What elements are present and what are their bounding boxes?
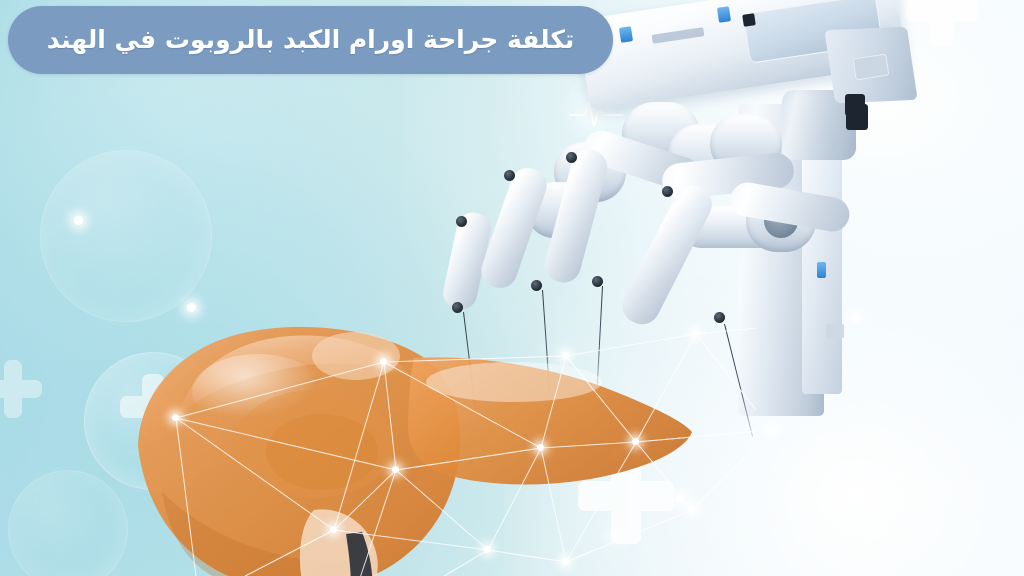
mesh-node [330,526,337,533]
polygonal-network-overlay [96,300,756,576]
instrument-cap-top-4 [662,186,673,197]
title-banner: تكلفة جراحة اورام الكبد بالروبوت في الهن… [8,6,613,74]
mesh-node [172,414,179,421]
mesh-node [537,444,544,451]
instrument-tip-2 [531,280,542,291]
instrument-cap-top-3 [566,152,577,163]
banner-title-text: تكلفة جراحة اورام الكبد بالروبوت في الهن… [21,26,601,55]
instrument-cap-top-2 [504,170,515,181]
mesh-node [688,506,695,513]
console-port-top [742,13,756,27]
mesh-node [768,426,775,433]
column-indicator-light [817,262,826,278]
mesh-node [562,352,569,359]
mesh-node [632,438,639,445]
mesh-node [562,558,569,565]
console-button-right [717,6,731,23]
console-button-left [619,26,633,43]
mesh-node [392,466,399,473]
banner-image-canvas: تكلفة جراحة اورام الكبد بالروبوت في الهن… [0,0,1024,576]
mesh-node [692,330,699,337]
medical-cross-left-edge [0,360,42,418]
console-port-side [845,94,865,116]
mesh-node [484,546,491,553]
column-panel [826,324,844,338]
mesh-node [380,358,387,365]
instrument-cap-top-1 [456,216,467,227]
sparkle-left-top [74,216,83,225]
mesh-node [852,314,859,321]
